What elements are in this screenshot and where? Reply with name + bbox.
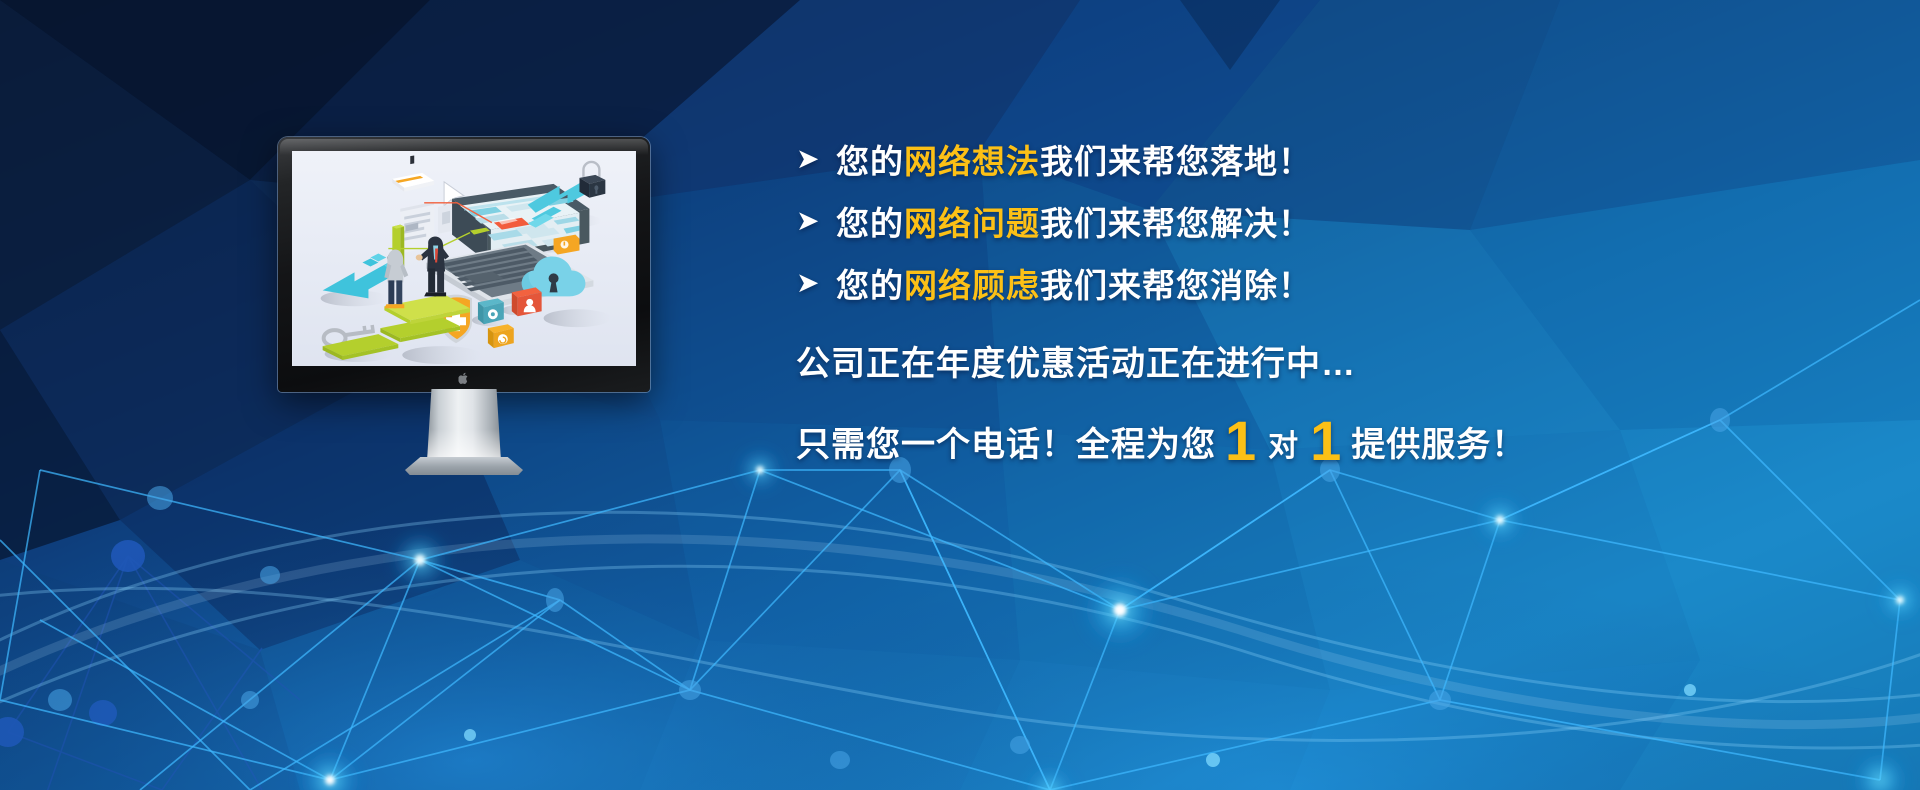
user-app-icon: [512, 287, 542, 316]
imac-monitor: [278, 137, 650, 392]
bullet-1-highlight: 网络想法: [904, 143, 1040, 180]
cta-tail: 提供服务！: [1351, 417, 1526, 466]
stand-neck-highlight: [427, 429, 501, 461]
page-icon: [438, 204, 454, 234]
cta-middle-word: 对: [1266, 421, 1301, 465]
arrow-right-icon: ➤: [796, 269, 836, 297]
bullet-2-prefix: 您的: [836, 205, 904, 242]
marketing-copy: ➤ 您的网络想法我们来帮您落地！ ➤ 您的网络问题我们来帮您解决！ ➤ 您的网络…: [796, 128, 1856, 466]
bullet-1-suffix: 我们来帮您落地！: [1040, 143, 1312, 180]
arrow-right-icon: ➤: [796, 145, 836, 173]
monitor-stand: [405, 389, 523, 473]
bullet-text-3: 您的网络顾虑我们来帮您消除！: [836, 259, 1312, 307]
cta-lead: 只需您一个电话！全程为您: [796, 417, 1216, 466]
bullet-text-2: 您的网络问题我们来帮您解决！: [836, 197, 1312, 245]
bullet-1-prefix: 您的: [836, 143, 904, 180]
bullet-2-highlight: 网络问题: [904, 205, 1040, 242]
bullet-line-3: ➤ 您的网络顾虑我们来帮您消除！: [796, 252, 1856, 314]
bullet-3-suffix: 我们来帮您消除！: [1040, 267, 1312, 304]
bullet-line-2: ➤ 您的网络问题我们来帮您解决！: [796, 190, 1856, 252]
monitor-screen: [292, 151, 636, 366]
bullet-line-1: ➤ 您的网络想法我们来帮您落地！: [796, 128, 1856, 190]
cta-text: 只需您一个电话！全程为您 1 对 1 提供服务！: [796, 417, 1856, 466]
isometric-illustration: [292, 151, 636, 366]
promo-text: 公司正在年度优惠活动正在进行中…: [796, 336, 1856, 385]
bullet-2-suffix: 我们来帮您解决！: [1040, 205, 1312, 242]
bullet-3-highlight: 网络顾虑: [904, 267, 1040, 304]
bullet-3-prefix: 您的: [836, 267, 904, 304]
arrow-right-icon: ➤: [796, 207, 836, 235]
stand-base: [405, 457, 523, 475]
bullet-text-1: 您的网络想法我们来帮您落地！: [836, 135, 1312, 183]
apple-logo-icon: [459, 372, 470, 385]
promo-banner: ➤ 您的网络想法我们来帮您落地！ ➤ 您的网络问题我们来帮您解决！ ➤ 您的网络…: [0, 0, 1920, 790]
